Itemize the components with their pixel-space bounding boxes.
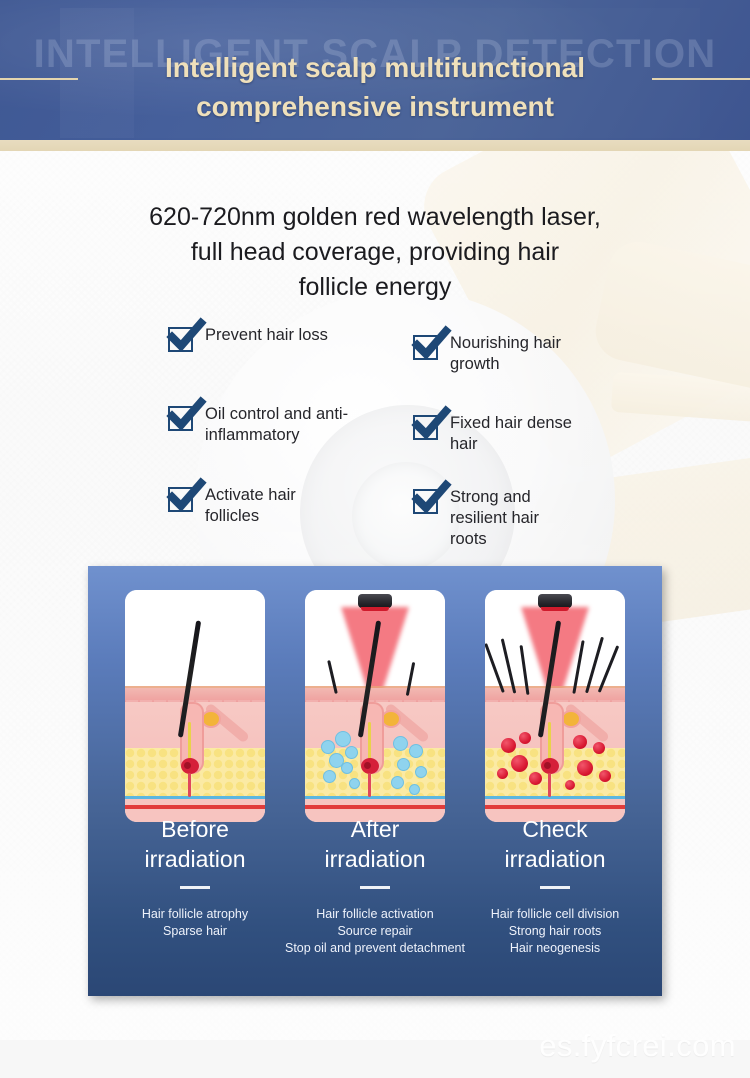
feature-label: Oil control and anti-inflammatory xyxy=(205,404,368,446)
laser-emitter-icon xyxy=(358,594,392,608)
caption-line: Hair follicle cell division xyxy=(445,906,665,923)
atp-molecule xyxy=(397,758,410,771)
dividing-cell xyxy=(519,732,531,744)
column-title-check: Check irradiation xyxy=(460,814,650,874)
headline-line-3: follicle energy xyxy=(75,270,675,305)
artery-line xyxy=(305,805,445,809)
column-title-line-2: irradiation xyxy=(280,844,470,874)
header-rule-right xyxy=(652,78,750,80)
page-title-line-1: Intelligent scalp multifunctional xyxy=(90,48,660,87)
dividing-cell xyxy=(497,768,508,779)
dermal-papilla-vessel xyxy=(368,773,371,797)
artery-line xyxy=(485,805,625,809)
atp-molecule xyxy=(341,762,353,774)
atp-molecule xyxy=(321,740,335,754)
skin-cross-section-diagram xyxy=(125,590,265,822)
atp-molecule xyxy=(345,746,358,759)
vein-line xyxy=(485,796,625,799)
illustration-card-before xyxy=(125,590,265,822)
dermal-papilla-vessel xyxy=(188,773,191,797)
artery-line xyxy=(125,805,265,809)
page-header: INTELLIGENT SCALP DETECTION Intelligent … xyxy=(0,0,750,140)
feature-item-nourishing-growth: Nourishing hair growth xyxy=(413,333,593,375)
skin-cross-section-diagram xyxy=(305,590,445,822)
feature-label: Prevent hair loss xyxy=(205,325,328,346)
feature-list: Prevent hair loss Oil control and anti-i… xyxy=(0,325,750,560)
illustration-card-check xyxy=(485,590,625,822)
column-title-line-2: irradiation xyxy=(460,844,650,874)
sebaceous-gland xyxy=(381,710,401,728)
column-title-line-1: After xyxy=(280,814,470,844)
sebaceous-gland xyxy=(561,710,581,728)
page-title: Intelligent scalp multifunctional compre… xyxy=(90,48,660,126)
checkbox-checked-icon xyxy=(168,327,193,352)
feature-item-activate-follicles: Activate hair follicles xyxy=(168,485,318,527)
feature-item-fixed-dense-hair: Fixed hair dense hair xyxy=(413,413,593,455)
atp-molecule xyxy=(409,784,420,795)
dividing-cell xyxy=(577,760,593,776)
site-watermark: es.fyfcrei.com xyxy=(539,1028,736,1064)
dividing-cell xyxy=(573,735,587,749)
page-title-line-2: comprehensive instrument xyxy=(90,87,660,126)
feature-item-strong-resilient-roots: Strong and resilient hair roots xyxy=(413,487,563,550)
dividing-cell xyxy=(593,742,605,754)
headline-line-1: 620-720nm golden red wavelength laser, xyxy=(75,200,675,235)
column-title-line-2: irradiation xyxy=(100,844,290,874)
dividing-cell xyxy=(529,772,542,785)
column-title-rule xyxy=(540,886,570,889)
product-infographic-page: INTELLIGENT SCALP DETECTION Intelligent … xyxy=(0,0,750,1078)
laser-emitter-icon xyxy=(538,594,572,608)
dividing-cell xyxy=(565,780,575,790)
checkbox-checked-icon xyxy=(413,335,438,360)
feature-label: Nourishing hair growth xyxy=(450,333,593,375)
feature-label: Fixed hair dense hair xyxy=(450,413,593,455)
skin-cross-section-diagram xyxy=(485,590,625,822)
sebaceous-gland xyxy=(201,710,221,728)
column-title-before: Before irradiation xyxy=(100,814,290,874)
checkbox-checked-icon xyxy=(168,487,193,512)
headline-line-2: full head coverage, providing hair xyxy=(75,235,675,270)
caption-line: Strong hair roots xyxy=(445,923,665,940)
checkbox-checked-icon xyxy=(413,489,438,514)
atp-molecule xyxy=(323,770,336,783)
column-title-rule xyxy=(180,886,210,889)
column-title-line-1: Check xyxy=(460,814,650,844)
column-title-rule xyxy=(360,886,390,889)
column-caption-check: Hair follicle cell division Strong hair … xyxy=(445,906,665,957)
atp-molecule xyxy=(335,731,351,747)
feature-label: Strong and resilient hair roots xyxy=(450,487,563,550)
hair-bulb-core xyxy=(364,762,371,769)
illustration-cards xyxy=(88,590,662,822)
column-title-line-1: Before xyxy=(100,814,290,844)
header-accent-band xyxy=(0,140,750,151)
atp-molecule xyxy=(415,766,427,778)
dermal-papilla-vessel xyxy=(548,773,551,797)
hair-medulla xyxy=(548,722,551,762)
irradiation-comparison-panel: Before irradiation After irradiation Che… xyxy=(88,566,662,996)
header-rule-left xyxy=(0,78,78,80)
vein-line xyxy=(125,796,265,799)
feature-item-prevent-hair-loss: Prevent hair loss xyxy=(168,325,328,352)
atp-molecule xyxy=(391,776,404,789)
dividing-cell xyxy=(511,755,528,772)
hair-medulla xyxy=(368,722,371,762)
atp-molecule xyxy=(409,744,423,758)
feature-item-oil-control: Oil control and anti-inflammatory xyxy=(168,404,368,446)
atp-molecule xyxy=(349,778,360,789)
atp-molecule xyxy=(393,736,408,751)
dividing-cell xyxy=(599,770,611,782)
dividing-cell xyxy=(501,738,516,753)
hair-bulb-core xyxy=(544,762,551,769)
headline: 620-720nm golden red wavelength laser, f… xyxy=(75,200,675,305)
checkbox-checked-icon xyxy=(168,406,193,431)
hair-medulla xyxy=(188,722,191,762)
illustration-card-after xyxy=(305,590,445,822)
hair-bulb-core xyxy=(184,762,191,769)
vein-line xyxy=(305,796,445,799)
checkbox-checked-icon xyxy=(413,415,438,440)
feature-label: Activate hair follicles xyxy=(205,485,318,527)
caption-line: Hair neogenesis xyxy=(445,940,665,957)
column-title-after: After irradiation xyxy=(280,814,470,874)
